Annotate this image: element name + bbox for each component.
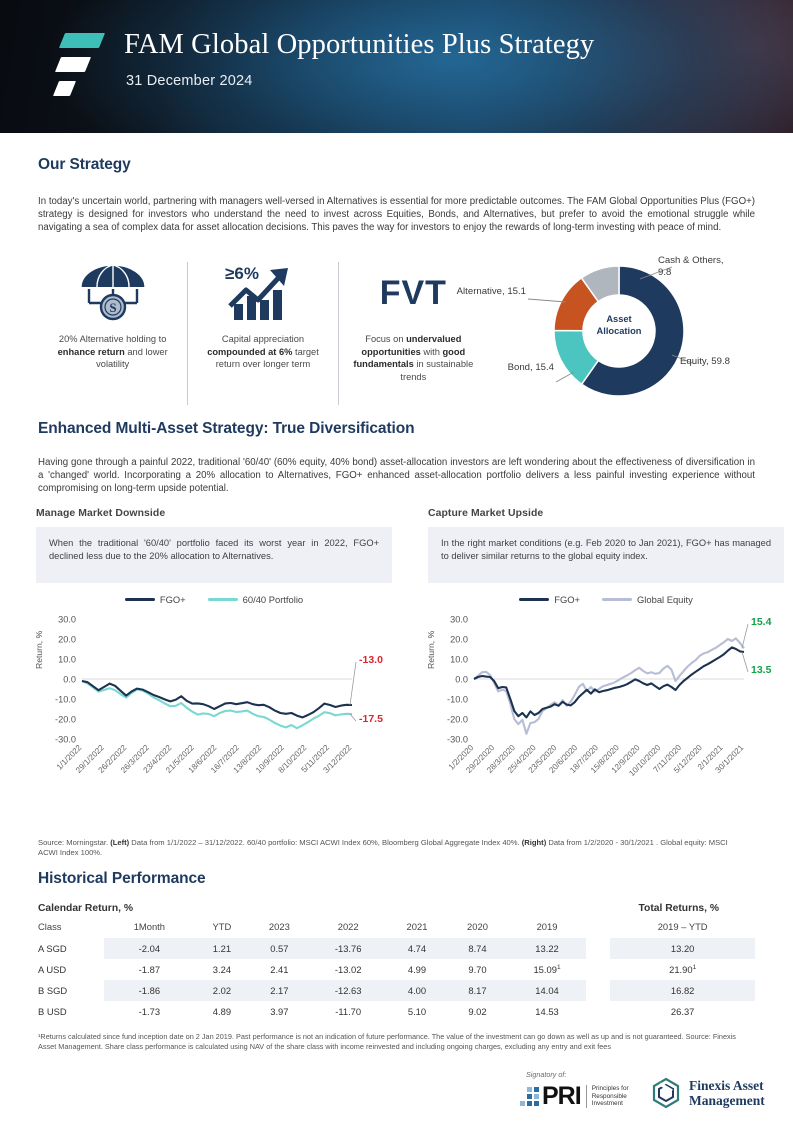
table-cell-value: -1.87 (104, 959, 195, 980)
table-cell-value: 15.091 (508, 959, 587, 980)
table-col-header: YTD (195, 919, 249, 938)
chart-right-ylabel: Return, % (426, 631, 436, 669)
legend-label-fgo: FGO+ (160, 594, 186, 605)
table-col-header: 2020 (447, 919, 508, 938)
table-row: B USD-1.734.893.97-11.705.109.0214.5326.… (38, 1001, 755, 1022)
pri-dots-icon (520, 1087, 539, 1106)
table-row: B SGD-1.862.022.17-12.634.008.1714.0416.… (38, 980, 755, 1001)
table-captions: Calendar Return, % Total Returns, % (38, 903, 755, 914)
table-cell-value: 14.53 (508, 1001, 587, 1022)
table-cell-value: 8.74 (447, 938, 508, 959)
table-cell-value: 3.24 (195, 959, 249, 980)
y-tick-30: 30.0 (58, 614, 76, 624)
company-name-line2: Management (689, 1093, 765, 1108)
panel-left-heading: Manage Market Downside (36, 508, 392, 519)
y-tick-20: 20.0 (450, 634, 468, 644)
donut-label-equity: Equity, 59.8 (680, 356, 750, 368)
feature-caption-1: 20% Alternative holding to enhance retur… (44, 333, 181, 371)
performance-footnote: ¹Returns calculated since fund inception… (38, 1032, 752, 1053)
y-tick--20: -20.0 (447, 714, 468, 724)
feature-caption-2: Capital appreciation compounded at 6% ta… (194, 333, 331, 371)
feature-capital-appreciation: ≥6% Capital appreciation compounded at 6… (187, 262, 337, 405)
table-cell-total: 16.82 (610, 980, 755, 1001)
table-cell-value: -13.76 (310, 938, 387, 959)
table-cell-value: -13.02 (310, 959, 387, 980)
leader-line-bond (556, 372, 574, 382)
table-cell-value: 9.02 (447, 1001, 508, 1022)
table-cell-value: -11.70 (310, 1001, 387, 1022)
table-cell-value: 13.22 (508, 938, 587, 959)
our-strategy-paragraph: In today's uncertain world, partnering w… (38, 195, 755, 235)
table-cell-value: -1.86 (104, 980, 195, 1001)
table-col-header: 2023 (249, 919, 310, 938)
series-line-global-equity (474, 638, 744, 733)
legend-label-6040: 60/40 Portfolio (243, 594, 303, 605)
table-cell-value: -1.73 (104, 1001, 195, 1022)
table-body: A SGD-2.041.210.57-13.764.748.7413.2213.… (38, 938, 755, 1022)
finexis-f-logo-icon (56, 30, 100, 104)
finexis-hex-logo-icon (651, 1077, 681, 1109)
signatory-label: Signatory of: (526, 1070, 629, 1079)
legend-item-6040: 60/40 Portfolio (208, 594, 303, 605)
y-tick-10: 10.0 (450, 654, 468, 664)
legend-swatch-fgo (125, 598, 155, 601)
table-col-gap (586, 919, 610, 938)
table-col-header: 2021 (387, 919, 448, 938)
chart-right-svg: 30.020.010.00.0-10.0-20.0-30.01/2/202029… (428, 611, 784, 811)
our-strategy-title: Our Strategy (38, 156, 755, 174)
legend-item-global-equity: Global Equity (602, 594, 693, 605)
table-cell-gap (586, 1001, 610, 1022)
pri-sub-3: Investment (592, 1100, 623, 1107)
y-tick-30: 30.0 (450, 614, 468, 624)
y-tick--30: -30.0 (55, 734, 76, 744)
table-cell-class: B SGD (38, 980, 104, 1001)
pri-wordmark: PRI (542, 1082, 581, 1111)
y-tick--10: -10.0 (55, 694, 76, 704)
table-col-header: 2019 (508, 919, 587, 938)
growth-chart-arrow-icon: ≥6% (194, 262, 331, 324)
panel-manage-market-downside: Manage Market Downside When the traditio… (36, 508, 392, 811)
end-value-label: 13.5 (751, 664, 772, 676)
table-cell-value: 0.57 (249, 938, 310, 959)
table-cell-value: 5.10 (387, 1001, 448, 1022)
chart-left-svg: 30.020.010.00.0-10.0-20.0-30.01/1/202229… (36, 611, 392, 811)
legend-item-fgo: FGO+ (125, 594, 186, 605)
table-col-header: 1Month (104, 919, 195, 938)
panel-right-heading: Capture Market Upside (428, 508, 784, 519)
company-name-line1: Finexis Asset (689, 1078, 765, 1093)
table-cell-total: 21.901 (610, 959, 755, 980)
donut-center-line2: Allocation (597, 326, 642, 336)
table-col-header: 2022 (310, 919, 387, 938)
table-header-row: Class1MonthYTD202320222021202020192019 –… (38, 919, 755, 938)
legend-label-global-equity: Global Equity (637, 594, 693, 605)
table-row: A SGD-2.041.210.57-13.764.748.7413.2213.… (38, 938, 755, 959)
company-name: Finexis Asset Management (689, 1078, 765, 1108)
pri-logo: Signatory of: PRI Principles for Respons… (520, 1070, 629, 1111)
y-tick-20: 20.0 (58, 634, 76, 644)
asset-allocation-chart: Asset Allocation Cash & Others, 9.8 Equi… (490, 252, 760, 410)
table-col-header: Class (38, 919, 104, 938)
legend-item-fgo-right: FGO+ (519, 594, 580, 605)
panel-right-legend: FGO+ Global Equity (428, 594, 784, 605)
historical-title: Historical Performance (38, 870, 755, 888)
table-cell-value: -2.04 (104, 938, 195, 959)
finexis-footer-logo: Finexis Asset Management (651, 1077, 765, 1109)
table-cell-gap (586, 959, 610, 980)
pri-sub-1: Principles for (592, 1085, 629, 1092)
end-value-label: -17.5 (359, 713, 383, 725)
y-tick-10: 10.0 (58, 654, 76, 664)
enhanced-section: Enhanced Multi-Asset Strategy: True Dive… (38, 420, 755, 496)
y-tick--30: -30.0 (447, 734, 468, 744)
chart-right: Return, % 30.020.010.00.0-10.0-20.0-30.0… (428, 611, 784, 811)
page-footer: Signatory of: PRI Principles for Respons… (0, 1062, 793, 1123)
performance-table: Class1MonthYTD202320222021202020192019 –… (38, 919, 755, 1022)
series-line-fgo- (474, 647, 744, 717)
table-cell-class: B USD (38, 1001, 104, 1022)
legend-label-fgo-right: FGO+ (554, 594, 580, 605)
pri-sub-2: Responsible (592, 1093, 627, 1100)
end-label-leader (742, 624, 748, 648)
historical-performance-section: Historical Performance Calendar Return, … (38, 870, 755, 1022)
leader-line-alternative (528, 299, 566, 302)
legend-swatch-6040 (208, 598, 238, 601)
report-date: 31 December 2024 (126, 73, 253, 89)
feature-alternative-holding: S 20% Alternative holding to enhance ret… (38, 262, 187, 405)
fvt-text: FVT (380, 274, 447, 313)
enhanced-title: Enhanced Multi-Asset Strategy: True Dive… (38, 420, 755, 438)
table-cell-value: 4.74 (387, 938, 448, 959)
legend-swatch-fgo-right (519, 598, 549, 601)
pri-subtitle: Principles for Responsible Investment (586, 1085, 629, 1108)
page-header: FAM Global Opportunities Plus Strategy 3… (0, 0, 793, 133)
table-cell-value: 2.02 (195, 980, 249, 1001)
series-line-fgo- (82, 681, 352, 717)
table-cell-total: 13.20 (610, 938, 755, 959)
panel-right-callout: In the right market conditions (e.g. Feb… (428, 527, 784, 583)
table-cell-class: A USD (38, 959, 104, 980)
table-cell-gap (586, 980, 610, 1001)
table-cell-value: 4.99 (387, 959, 448, 980)
table-cell-value: 2.41 (249, 959, 310, 980)
end-value-label: 15.4 (751, 616, 772, 628)
legend-swatch-global-equity (602, 598, 632, 601)
chart-left-ylabel: Return, % (34, 631, 44, 669)
donut-label-bond: Bond, 15.4 (492, 362, 554, 374)
umbrella-dollar-icon: S (44, 262, 181, 324)
table-row: A USD-1.873.242.41-13.024.999.7015.09121… (38, 959, 755, 980)
strategy-features: S 20% Alternative holding to enhance ret… (38, 262, 488, 405)
table-cell-value: 14.04 (508, 980, 587, 1001)
table-cell-value: 3.97 (249, 1001, 310, 1022)
y-tick-0: 0.0 (455, 674, 468, 684)
table-cell-value: 4.89 (195, 1001, 249, 1022)
feature-caption-3: Focus on undervalued opportunities with … (345, 333, 482, 383)
enhanced-paragraph: Having gone through a painful 2022, trad… (38, 456, 755, 496)
svg-text:≥6%: ≥6% (225, 264, 259, 283)
table-cell-value: 4.00 (387, 980, 448, 1001)
table-cell-total: 26.37 (610, 1001, 755, 1022)
donut-label-cash: Cash & Others, 9.8 (658, 255, 728, 280)
end-label-leader (742, 652, 748, 672)
donut-label-alternative: Alternative, 15.1 (448, 286, 526, 298)
donut-center-line1: Asset (606, 314, 631, 324)
end-label-leader (350, 714, 356, 721)
y-tick--10: -10.0 (447, 694, 468, 704)
end-label-leader (350, 662, 356, 705)
table-cell-value: 1.21 (195, 938, 249, 959)
table-cell-value: 2.17 (249, 980, 310, 1001)
charts-source-note: Source: Morningstar. (Left) Data from 1/… (38, 838, 748, 858)
y-tick--20: -20.0 (55, 714, 76, 724)
total-returns-caption: Total Returns, % (639, 903, 719, 914)
panel-capture-market-upside: Capture Market Upside In the right marke… (428, 508, 784, 811)
table-cell-value: 8.17 (447, 980, 508, 1001)
svg-text:S: S (109, 300, 116, 315)
panel-left-callout: When the traditional '60/40' portfolio f… (36, 527, 392, 583)
series-line-60-40-portfolio (82, 681, 352, 728)
y-tick-0: 0.0 (63, 674, 76, 684)
table-col-header-total: 2019 – YTD (610, 919, 755, 938)
table-cell-class: A SGD (38, 938, 104, 959)
table-cell-value: 9.70 (447, 959, 508, 980)
calendar-return-caption: Calendar Return, % (38, 903, 133, 914)
feature-fvt: FVT Focus on undervalued opportunities w… (338, 262, 488, 405)
table-cell-gap (586, 938, 610, 959)
table-cell-value: -12.63 (310, 980, 387, 1001)
our-strategy-section: Our Strategy In today's uncertain world,… (38, 156, 755, 235)
panel-left-legend: FGO+ 60/40 Portfolio (36, 594, 392, 605)
donut-center-label: Asset Allocation (581, 314, 657, 337)
end-value-label: -13.0 (359, 654, 383, 666)
page-title: FAM Global Opportunities Plus Strategy (124, 29, 594, 61)
chart-left: Return, % 30.020.010.00.0-10.0-20.0-30.0… (36, 611, 392, 811)
